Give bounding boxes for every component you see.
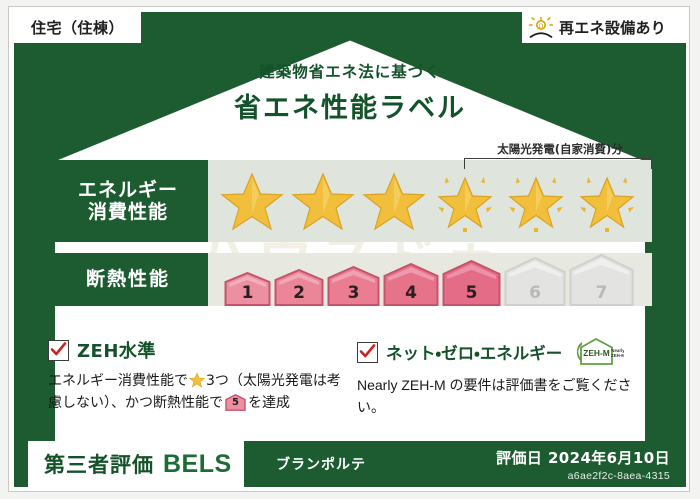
footer-bels-text: BELS	[163, 450, 232, 479]
star-rating	[208, 168, 642, 234]
energy-performance-label: エネルギー 消費性能	[48, 160, 208, 242]
label-footer: 第三者評価 BELS ブランポルテ 評価日 2024年6月10日 a6ae2f2…	[14, 441, 686, 487]
note-zeh-standard-title: ZEH水準	[77, 337, 156, 363]
label-title: 建築物省エネ法に基づく 省エネ性能ラベル	[0, 60, 700, 125]
title-subtitle: 建築物省エネ法に基づく	[0, 60, 700, 82]
checkbox-checked-icon[interactable]	[48, 340, 69, 361]
star-icon	[218, 168, 287, 234]
footer-date-value: 2024年6月10日	[548, 449, 670, 467]
star-icon	[289, 168, 358, 234]
zeh-m-logo-icon: ZEH-M Nearly ZEH-M	[572, 337, 624, 367]
checkbox-checked-icon[interactable]	[357, 342, 378, 363]
renewable-badge-text: 再エネ設備あり	[559, 17, 666, 38]
energy-label-line2: 消費性能	[88, 201, 168, 223]
star-icon-solar	[502, 168, 571, 234]
energy-performance-row: エネルギー 消費性能 太陽光発電(自家消費)分	[48, 160, 652, 242]
star-icon-solar	[431, 168, 500, 234]
renewable-badge: D 再エネ設備あり	[522, 12, 686, 43]
note-zeh-standard-body: エネルギー消費性能で3つ（太陽光発電は考慮しない）、かつ断熱性能で5を達成	[48, 371, 343, 414]
footer-brand-name: ブランポルテ	[276, 441, 366, 487]
footer-label-id: a6ae2f2c-8aea-4315	[568, 470, 670, 482]
footer-third-party-text: 第三者評価	[44, 449, 154, 479]
insulation-level-7-number: 7	[569, 283, 634, 303]
insulation-level-1: 1	[224, 272, 271, 306]
insulation-level-3-number: 3	[327, 283, 380, 303]
insulation-level-4: 4	[383, 263, 439, 306]
svg-text:D: D	[539, 23, 544, 30]
energy-label-line1: エネルギー	[78, 179, 178, 201]
note-body-pre: エネルギー消費性能で	[48, 373, 188, 389]
performance-block: エネルギー 消費性能 太陽光発電(自家消費)分	[48, 160, 652, 306]
solar-note-text: 太陽光発電(自家消費)分	[466, 141, 654, 157]
insulation-label-text: 断熱性能	[86, 268, 170, 290]
footer-date-label: 評価日	[496, 449, 542, 467]
insulation-level-6-number: 6	[504, 283, 566, 303]
note-body-post: を達成	[248, 395, 290, 411]
label-kind-text: 住宅（住棟）	[31, 17, 124, 38]
footer-evaluation-date: 評価日 2024年6月10日	[496, 447, 670, 468]
note-zeh-standard: ZEH水準 エネルギー消費性能で3つ（太陽光発電は考慮しない）、かつ断熱性能で5…	[48, 337, 343, 418]
note-net-zero-energy-header: ネット・ゼロ・エネルギー ZEH-M Nearly ZEH-M	[357, 337, 652, 367]
energy-performance-value: 太陽光発電(自家消費)分	[208, 160, 652, 242]
footer-bels-block: 第三者評価 BELS	[28, 441, 244, 487]
notes-section: ZEH水準 エネルギー消費性能で3つ（太陽光発電は考慮しない）、かつ断熱性能で5…	[48, 337, 652, 418]
title-main: 省エネ性能ラベル	[0, 86, 700, 125]
note-net-zero-energy: ネット・ゼロ・エネルギー ZEH-M Nearly ZEH-M Nearly Z…	[357, 337, 652, 418]
insulation-performance-row: 断熱性能 1	[48, 253, 652, 306]
note-zeh-standard-header: ZEH水準	[48, 337, 343, 363]
svg-text:ZEH-M: ZEH-M	[611, 353, 624, 358]
insulation-performance-value: 1 2 3	[208, 253, 652, 306]
insulation-level-2: 2	[274, 269, 324, 306]
note-net-zero-energy-body: Nearly ZEH-M の要件は評価書をご覧ください。	[357, 375, 652, 418]
insulation-level-5-number: 5	[442, 283, 501, 303]
insulation-level-6: 6	[504, 257, 566, 306]
insulation-level-scale: 1 2 3	[208, 254, 634, 306]
note-net-zero-energy-title: ネット・ゼロ・エネルギー	[386, 340, 562, 364]
energy-performance-label: 住宅（住棟） D 再エネ設備あり 建築物省エネ法に基づく 省エネ性能ラベル ハウ…	[0, 0, 700, 499]
insulation-level-3: 3	[327, 266, 380, 306]
label-kind-tab: 住宅（住棟）	[14, 12, 141, 43]
insulation-level-4-number: 4	[383, 283, 439, 303]
insulation-level-7: 7	[569, 254, 634, 306]
insulation-level-2-number: 2	[274, 283, 324, 303]
insulation-level-1-number: 1	[224, 283, 271, 303]
insulation-level-5: 5	[442, 260, 501, 306]
svg-text:ZEH-M: ZEH-M	[583, 348, 610, 358]
insulation-performance-label: 断熱性能	[48, 253, 208, 306]
insulation-level-badge-inline: 5	[225, 394, 246, 411]
insulation-level-badge-inline-value: 5	[225, 395, 246, 411]
footer-evaluation-info: 評価日 2024年6月10日 a6ae2f2c-8aea-4315	[496, 441, 670, 487]
star-icon	[360, 168, 429, 234]
star-icon-solar	[573, 168, 642, 234]
sun-solar-icon: D	[528, 17, 554, 39]
star-icon-inline	[189, 372, 205, 388]
